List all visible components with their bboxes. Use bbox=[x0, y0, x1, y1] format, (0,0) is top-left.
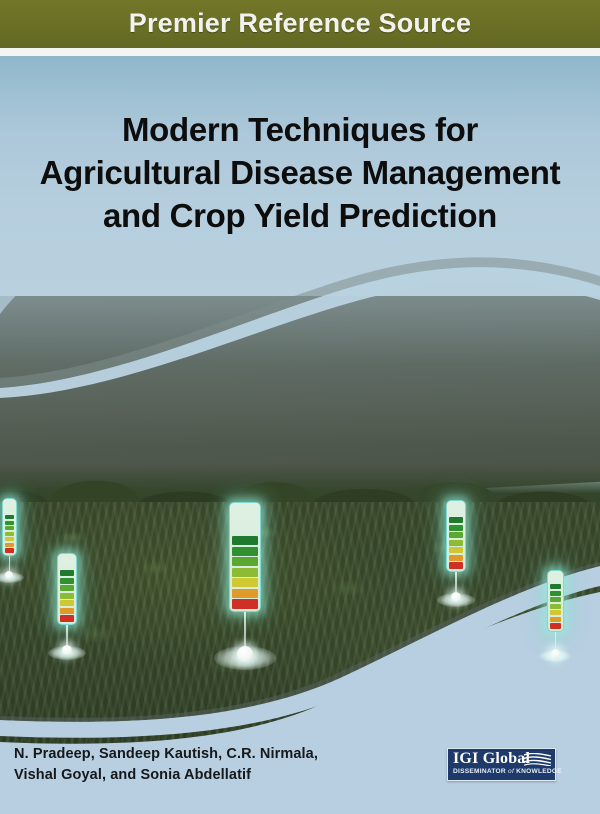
author-line-1: N. Pradeep, Sandeep Kautish, C.R. Nirmal… bbox=[14, 744, 318, 765]
scale-bar bbox=[60, 578, 74, 584]
crop-field-texture bbox=[0, 502, 600, 756]
scale-bar bbox=[5, 515, 14, 519]
title-line-1: Modern Techniques for bbox=[0, 108, 600, 151]
scale-bar bbox=[550, 617, 561, 622]
scale-bar bbox=[449, 517, 463, 523]
scale-bar bbox=[5, 543, 14, 547]
banner-divider-strip bbox=[0, 48, 600, 56]
sensor-edge-left bbox=[2, 498, 17, 608]
sensor-base-knob bbox=[551, 649, 560, 658]
scale-bar bbox=[449, 562, 463, 569]
scale-bar bbox=[60, 593, 74, 599]
scale-bar bbox=[232, 547, 258, 556]
publisher-tagline: DISSEMINATOR of KNOWLEDGE bbox=[453, 768, 551, 775]
scale-bar bbox=[449, 555, 463, 561]
sensor-center bbox=[229, 502, 261, 682]
atmospheric-haze bbox=[0, 296, 600, 446]
series-banner: Premier Reference Source bbox=[0, 0, 600, 48]
sensor-scale-panel bbox=[229, 502, 261, 612]
scale-bar bbox=[60, 585, 74, 591]
scale-bar bbox=[550, 584, 561, 589]
title-line-3: and Crop Yield Prediction bbox=[0, 194, 600, 237]
scale-bar bbox=[232, 589, 258, 598]
sensor-scale-panel bbox=[57, 553, 77, 625]
sensor-base-knob bbox=[451, 592, 461, 602]
scale-bar bbox=[449, 532, 463, 538]
scale-bar bbox=[232, 599, 258, 609]
scale-bar bbox=[232, 557, 258, 566]
publisher-logo: IGI Global DISSEMINATOR of KNOWLEDGE bbox=[447, 748, 556, 781]
landscape-photo bbox=[0, 296, 600, 756]
wave-lines-icon bbox=[524, 753, 552, 766]
scale-bar bbox=[5, 548, 14, 553]
scale-bar bbox=[550, 610, 561, 615]
tagline-after: KNOWLEDGE bbox=[514, 768, 562, 775]
title-line-2: Agricultural Disease Management bbox=[0, 151, 600, 194]
author-list: N. Pradeep, Sandeep Kautish, C.R. Nirmal… bbox=[14, 744, 318, 786]
scale-bar bbox=[232, 578, 258, 587]
sensor-scale-panel bbox=[2, 498, 17, 556]
scale-bar bbox=[60, 570, 74, 576]
scale-bar bbox=[5, 537, 14, 541]
scale-bar bbox=[5, 521, 14, 525]
sensor-base-knob bbox=[237, 646, 253, 662]
series-banner-label: Premier Reference Source bbox=[0, 8, 600, 39]
scale-bar bbox=[60, 615, 74, 622]
scale-bar bbox=[232, 536, 258, 545]
book-cover: Premier Reference Source Modern Techniqu… bbox=[0, 0, 600, 814]
scale-bar bbox=[550, 597, 561, 602]
sensor-left bbox=[57, 553, 77, 683]
sensor-right bbox=[446, 500, 466, 630]
scale-bar bbox=[449, 525, 463, 531]
sensor-scale-panel bbox=[446, 500, 466, 572]
scale-bar bbox=[5, 526, 14, 530]
book-title: Modern Techniques for Agricultural Disea… bbox=[0, 108, 600, 237]
scale-bar bbox=[5, 532, 14, 536]
scale-bar bbox=[60, 600, 74, 606]
sensor-base-knob bbox=[62, 645, 72, 655]
scale-bar bbox=[550, 591, 561, 596]
sensor-far-right bbox=[547, 570, 564, 690]
author-line-2: Vishal Goyal, and Sonia Abdellatif bbox=[14, 765, 318, 786]
sensor-scale-panel bbox=[547, 570, 564, 632]
sensor-base-knob bbox=[5, 571, 13, 579]
scale-bar bbox=[449, 547, 463, 553]
scale-bar bbox=[550, 604, 561, 609]
scale-bar bbox=[232, 568, 258, 577]
publisher-name: IGI Global bbox=[453, 750, 530, 768]
scale-bar bbox=[60, 608, 74, 614]
tagline-before: DISSEMINATOR bbox=[453, 768, 508, 775]
scale-bar bbox=[550, 623, 561, 629]
scale-bar bbox=[449, 540, 463, 546]
